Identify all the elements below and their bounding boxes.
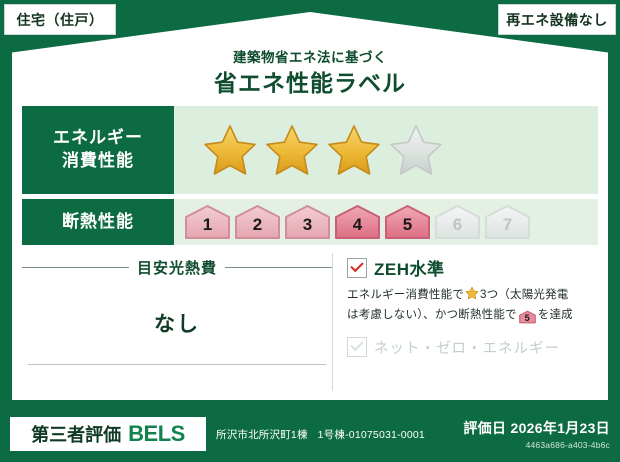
- insulation-level-value: 7: [503, 215, 512, 240]
- house-icon: 5: [384, 204, 431, 240]
- lower-section: 目安光熱費 なし ZEH水準 エネルギー消費性能で3つ（太陽光発電 は考慮しない…: [22, 253, 598, 391]
- house-icon-small: 5: [519, 310, 536, 324]
- star-icon: [264, 123, 320, 177]
- house-icon-empty: 6: [434, 204, 481, 240]
- insulation-performance-value: 1 2 3 4: [174, 199, 598, 245]
- badge-renewable-energy: 再エネ設備なし: [498, 4, 616, 35]
- zeh-desc-house-level: 5: [519, 310, 536, 327]
- badge-dwelling-type: 住宅（住戸）: [4, 4, 116, 35]
- house-icon: 1: [184, 204, 231, 240]
- zeh-panel: ZEH水準 エネルギー消費性能で3つ（太陽光発電 は考慮しない）、かつ断熱性能で…: [332, 253, 598, 391]
- evaluation-id: 4463a686-a403-4b6c: [463, 440, 610, 450]
- evaluation-date-value: 2026年1月23日: [510, 420, 610, 436]
- insulation-level-value: 3: [303, 215, 312, 240]
- star-icon-empty: [388, 123, 444, 177]
- star-icon: [326, 123, 382, 177]
- utility-cost-panel: 目安光熱費 なし: [22, 253, 332, 391]
- zeh-desc-part2: は考慮しない）、かつ断熱性能で: [347, 309, 517, 321]
- utility-cost-underline: [28, 364, 326, 365]
- insulation-level-value: 6: [453, 215, 462, 240]
- utility-cost-value: なし: [22, 308, 332, 338]
- zeh-desc-part1: エネルギー消費性能で: [347, 289, 464, 301]
- divider-left: [22, 267, 129, 268]
- label-body: エネルギー 消費性能: [12, 100, 608, 400]
- evaluation-date-row: 評価日 2026年1月23日: [463, 418, 610, 438]
- insulation-level-value: 2: [253, 215, 262, 240]
- house-icon-empty: 7: [484, 204, 531, 240]
- zeh-title-row: ZEH水準: [347, 255, 598, 280]
- insulation-level-value: 5: [403, 215, 412, 240]
- bels-en-text: BELS: [128, 421, 185, 447]
- energy-performance-label: 住宅（住戸） 再エネ設備なし 建築物省エネ法に基づく 省エネ性能ラベル エネルギ…: [0, 0, 620, 462]
- house-icon: 2: [234, 204, 281, 240]
- energy-key-line1: エネルギー: [53, 127, 143, 150]
- page-title: 省エネ性能ラベル: [12, 64, 608, 98]
- house-icon: 3: [284, 204, 331, 240]
- zeh-desc-part3: を達成: [538, 309, 573, 321]
- net-zero-energy-row: ネット・ゼロ・エネルギー: [347, 337, 598, 358]
- insulation-level-value: 4: [353, 215, 362, 240]
- utility-cost-heading: 目安光熱費: [22, 257, 332, 278]
- energy-key-line2: 消費性能: [62, 150, 134, 173]
- label-footer: 第三者評価 BELS 所沢市北所沢町1棟1号棟-01075031-0001 評価…: [0, 406, 620, 462]
- divider-right: [225, 267, 332, 268]
- checkbox-checked-icon: [347, 258, 367, 278]
- zeh-title: ZEH水準: [374, 255, 445, 280]
- energy-performance-row: エネルギー 消費性能: [22, 106, 598, 194]
- star-icon: [202, 123, 258, 177]
- net-zero-energy-label: ネット・ゼロ・エネルギー: [374, 337, 560, 358]
- property-building-id: 1号棟-01075031-0001: [318, 429, 425, 441]
- zeh-desc-stars: 3つ（太陽光発電: [480, 289, 569, 301]
- energy-performance-key: エネルギー 消費性能: [22, 106, 174, 194]
- star-rating: [202, 123, 444, 177]
- checkbox-unchecked-icon: [347, 337, 367, 357]
- evaluation-date-label: 評価日: [463, 420, 506, 436]
- insulation-performance-row: 断熱性能 1 2: [22, 199, 598, 245]
- property-address-row: 所沢市北所沢町1棟1号棟-01075031-0001: [216, 427, 425, 442]
- utility-cost-label: 目安光熱費: [137, 257, 217, 278]
- insulation-key-line1: 断熱性能: [62, 211, 134, 234]
- house-icon: 4: [334, 204, 381, 240]
- bels-jp-text: 第三者評価: [31, 421, 121, 447]
- star-icon-small: [465, 286, 479, 307]
- zeh-description: エネルギー消費性能で3つ（太陽光発電 は考慮しない）、かつ断熱性能で5を達成: [347, 286, 598, 325]
- insulation-level-value: 1: [203, 215, 212, 240]
- bels-logo: 第三者評価 BELS: [10, 417, 206, 451]
- insulation-scale: 1 2 3 4: [184, 204, 531, 240]
- label-subtitle: 建築物省エネ法に基づく: [12, 46, 608, 66]
- energy-performance-value: [174, 106, 598, 194]
- evaluation-info: 評価日 2026年1月23日 4463a686-a403-4b6c: [463, 418, 610, 450]
- insulation-performance-key: 断熱性能: [22, 199, 174, 245]
- property-address: 所沢市北所沢町1棟: [216, 429, 308, 441]
